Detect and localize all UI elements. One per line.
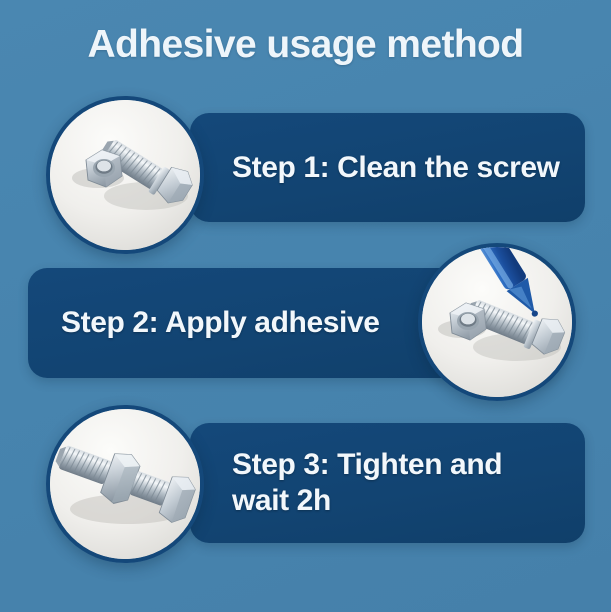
step-1-card[interactable]: Step 1: Clean the screw (190, 113, 585, 222)
step-3-label: Step 3: Tighten and wait 2h (232, 447, 502, 519)
step-1-label: Step 1: Clean the screw (232, 150, 560, 186)
infographic-page: Adhesive usage method Step 1: Clean the … (0, 0, 611, 612)
step-3-card[interactable]: Step 3: Tighten and wait 2h (190, 423, 585, 543)
bolt-and-nut-photo (46, 96, 204, 254)
bolt-with-nut-threaded-on-photo (46, 405, 204, 563)
page-title: Adhesive usage method (0, 22, 611, 68)
bolt-nut-with-applicator-pen-photo (418, 243, 576, 401)
step-row-2: Step 2: Apply adhesive (0, 243, 611, 411)
step-row-1: Step 1: Clean the screw (0, 96, 611, 248)
step-row-3: Step 3: Tighten and wait 2h (0, 403, 611, 558)
step-2-label: Step 2: Apply adhesive (61, 305, 380, 341)
